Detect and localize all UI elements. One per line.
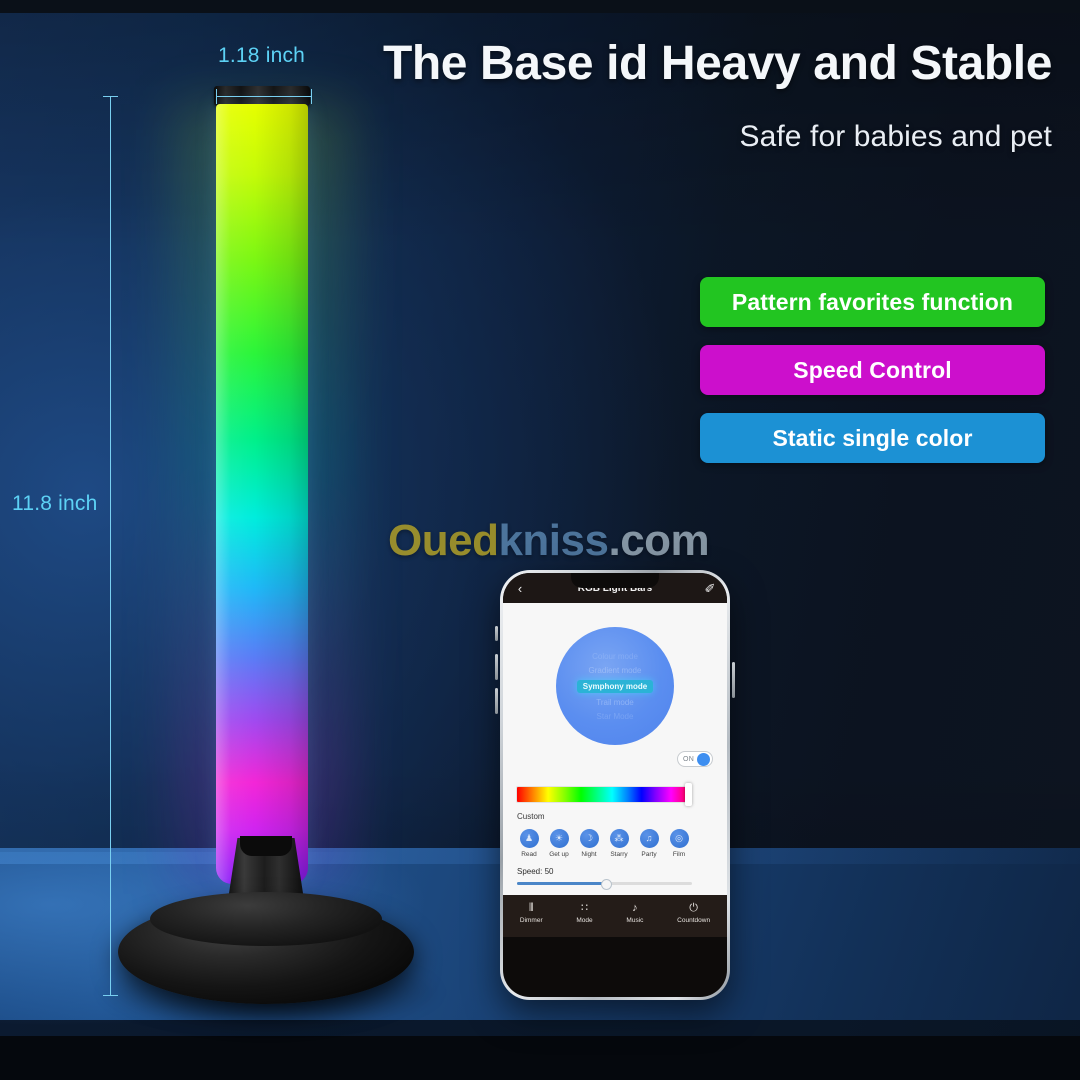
tab-label: Dimmer bbox=[520, 917, 543, 924]
light-bar-tube bbox=[216, 104, 308, 884]
dimmer-icon: ⦀ bbox=[529, 903, 534, 914]
scene-preset-starry[interactable]: ⁂ Starry bbox=[606, 829, 632, 858]
tab-label: Music bbox=[626, 917, 643, 924]
height-dimension-line bbox=[110, 96, 111, 996]
height-tick-bottom bbox=[103, 995, 118, 996]
background-top-strip bbox=[0, 0, 1080, 13]
tab-label: Countdown bbox=[677, 917, 710, 924]
scene-label: Night bbox=[581, 851, 596, 858]
tab-dimmer[interactable]: ⦀ Dimmer bbox=[520, 903, 543, 924]
mode-option-colour[interactable]: Colour mode bbox=[592, 652, 638, 661]
back-chevron-icon[interactable]: ‹ bbox=[513, 582, 527, 595]
watermark-part-1: Oued bbox=[388, 516, 498, 565]
feature-pill-label: Static single color bbox=[772, 425, 972, 452]
tab-countdown[interactable]: ⏻ Countdown bbox=[677, 903, 710, 924]
sun-icon: ☀ bbox=[550, 829, 569, 848]
phone-notch bbox=[571, 573, 659, 588]
timer-icon: ⏻ bbox=[689, 903, 698, 914]
color-spectrum-slider[interactable] bbox=[516, 786, 691, 803]
width-dimension-line bbox=[216, 96, 312, 97]
scene-label: Party bbox=[641, 851, 656, 858]
light-bar-base-notch bbox=[240, 836, 292, 856]
scene-preset-get-up[interactable]: ☀ Get up bbox=[546, 829, 572, 858]
feature-pill-label: Speed Control bbox=[793, 357, 951, 384]
feature-pill: Speed Control bbox=[700, 345, 1045, 395]
tab-music[interactable]: ♪ Music bbox=[626, 903, 643, 924]
phone-volume-up-button[interactable] bbox=[495, 654, 498, 680]
tab-mode[interactable]: ∷ Mode bbox=[576, 903, 592, 924]
speed-slider-fill bbox=[517, 882, 605, 885]
subheadline: Safe for babies and pet bbox=[340, 120, 1052, 154]
mode-option-trail[interactable]: Trail mode bbox=[596, 698, 634, 707]
tab-label: Mode bbox=[576, 917, 592, 924]
read-icon: ♟ bbox=[520, 829, 539, 848]
watermark-part-3: .com bbox=[608, 516, 709, 565]
feature-pill-label: Pattern favorites function bbox=[732, 289, 1013, 316]
scene-label: Film bbox=[673, 851, 685, 858]
feature-pill: Static single color bbox=[700, 413, 1045, 463]
speed-slider-track[interactable] bbox=[517, 882, 692, 885]
scene-label: Read bbox=[521, 851, 537, 858]
width-dimension-label: 1.18 inch bbox=[218, 44, 305, 68]
custom-section-label: Custom bbox=[517, 812, 545, 821]
watermark-part-2: kniss bbox=[498, 516, 608, 565]
mode-selector-wheel[interactable]: Colour mode Gradient mode Symphony mode … bbox=[556, 627, 674, 745]
mode-option-gradient[interactable]: Gradient mode bbox=[589, 666, 642, 675]
film-icon: ◎ bbox=[670, 829, 689, 848]
speed-label: Speed: 50 bbox=[517, 867, 692, 876]
music-note-icon: ♫ bbox=[640, 829, 659, 848]
scene-preset-night[interactable]: ☽ Night bbox=[576, 829, 602, 858]
power-toggle-label: ON bbox=[683, 756, 694, 763]
grid-icon: ∷ bbox=[581, 903, 588, 914]
watermark: Ouedkniss.com bbox=[388, 516, 709, 566]
scene-label: Get up bbox=[549, 851, 569, 858]
phone-power-button[interactable] bbox=[732, 662, 735, 698]
phone-silent-switch[interactable] bbox=[495, 626, 498, 641]
mode-option-symphony-selected[interactable]: Symphony mode bbox=[577, 680, 653, 693]
mode-option-star[interactable]: Star Mode bbox=[597, 712, 634, 721]
scene-preset-party[interactable]: ♫ Party bbox=[636, 829, 662, 858]
app-body: Colour mode Gradient mode Symphony mode … bbox=[503, 603, 727, 937]
table-front-edge bbox=[0, 1020, 1080, 1036]
phone-volume-down-button[interactable] bbox=[495, 688, 498, 714]
stars-icon: ⁂ bbox=[610, 829, 629, 848]
feature-pill-list: Pattern favorites function Speed Control… bbox=[700, 277, 1045, 481]
scene-preset-list: ♟ Read ☀ Get up ☽ Night ⁂ Starry bbox=[516, 829, 692, 858]
height-dimension-label: 11.8 inch bbox=[12, 492, 97, 516]
power-toggle[interactable]: ON bbox=[677, 751, 713, 767]
scene-preset-read[interactable]: ♟ Read bbox=[516, 829, 542, 858]
width-tick-right bbox=[311, 89, 312, 104]
power-toggle-knob[interactable] bbox=[697, 753, 710, 766]
light-bar-base-foot-top bbox=[150, 892, 382, 946]
scene-label: Starry bbox=[610, 851, 627, 858]
product-marketing-image: 1.18 inch 11.8 inch The Base id Heavy an… bbox=[0, 0, 1080, 1080]
headline: The Base id Heavy and Stable bbox=[340, 38, 1052, 90]
rgb-light-bar bbox=[210, 86, 314, 886]
phone-screen: ‹ RGB Light Bars ✐ Colour mode Gradient … bbox=[503, 573, 727, 997]
edit-pencil-icon[interactable]: ✐ bbox=[703, 582, 717, 595]
feature-pill: Pattern favorites function bbox=[700, 277, 1045, 327]
bottom-tab-bar: ⦀ Dimmer ∷ Mode ♪ Music ⏻ Countdown bbox=[503, 895, 727, 937]
speed-control: Speed: 50 bbox=[517, 867, 692, 885]
scene-preset-film[interactable]: ◎ Film bbox=[666, 829, 692, 858]
speed-slider-knob[interactable] bbox=[601, 879, 612, 890]
color-spectrum-handle[interactable] bbox=[685, 783, 692, 806]
music-note-icon: ♪ bbox=[632, 903, 638, 914]
smartphone-mockup: ‹ RGB Light Bars ✐ Colour mode Gradient … bbox=[500, 570, 730, 1000]
moon-icon: ☽ bbox=[580, 829, 599, 848]
